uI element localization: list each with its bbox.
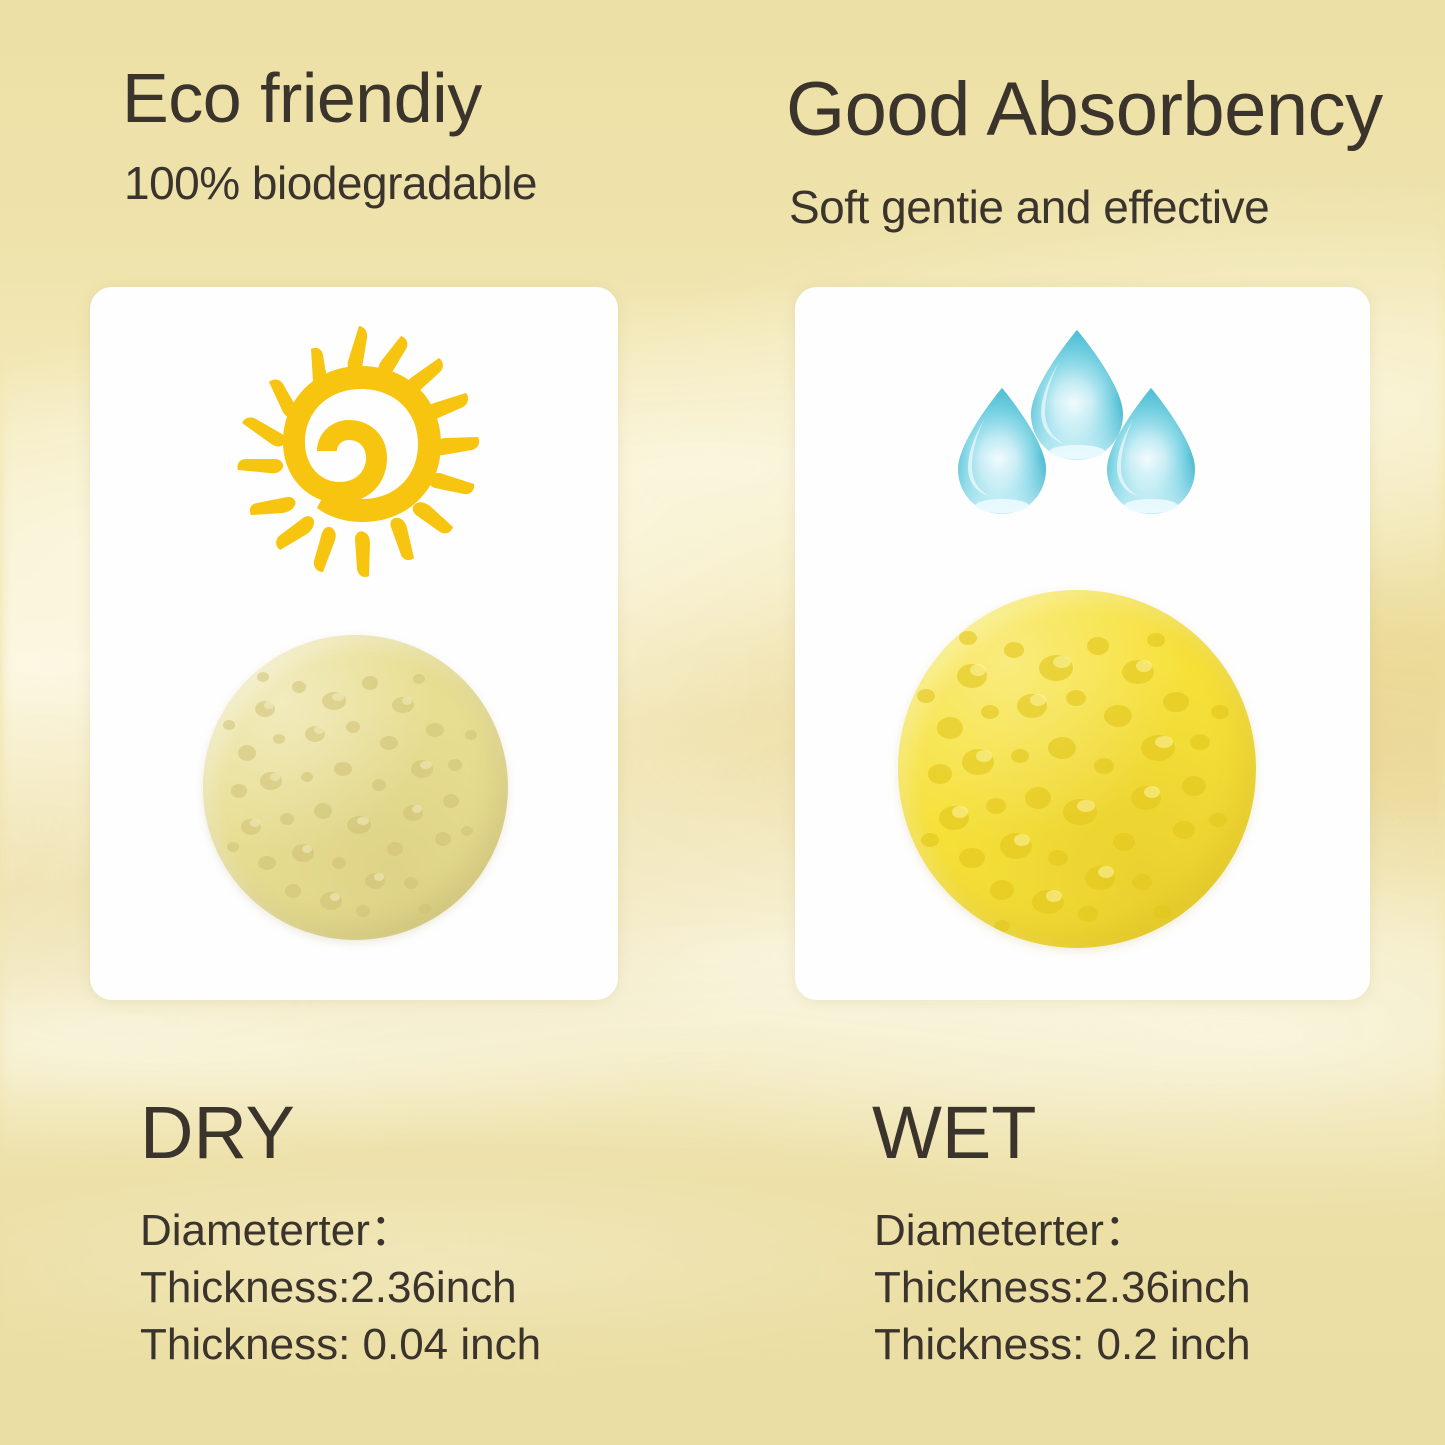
sun-icon: [233, 324, 489, 580]
dry-sponge-image: [203, 635, 508, 940]
dry-product-card: [90, 287, 618, 1000]
dry-panel-heading: Eco friendiy: [122, 63, 482, 133]
wet-product-card: [795, 287, 1370, 1000]
wet-panel-subheading: Soft gentie and effective: [789, 184, 1269, 230]
wet-sponge-pore-texture: [898, 590, 1256, 948]
wet-spec-diameter: Diameterter：: [874, 1202, 1251, 1259]
dry-spec-list: Diameterter： Thickness:2.36inch Thicknes…: [140, 1202, 541, 1373]
wet-spec-thickness-2: Thickness: 0.2 inch: [874, 1316, 1251, 1373]
dry-panel-subheading: 100% biodegradable: [124, 160, 537, 206]
product-feature-infographic: Eco friendiy 100% biodegradable: [0, 0, 1445, 1445]
dry-sponge-pore-texture: [203, 635, 508, 940]
wet-sponge-image: [898, 590, 1256, 948]
wet-panel-heading: Good Absorbency: [786, 72, 1383, 148]
dry-spec-diameter: Diameterter：: [140, 1202, 541, 1259]
water-drops-icon: [955, 322, 1200, 544]
wet-state-label: WET: [872, 1096, 1036, 1170]
dry-spec-thickness-1: Thickness:2.36inch: [140, 1259, 541, 1316]
dry-spec-thickness-2: Thickness: 0.04 inch: [140, 1316, 541, 1373]
water-drop-top: [1031, 330, 1123, 460]
wet-spec-list: Diameterter： Thickness:2.36inch Thicknes…: [874, 1202, 1251, 1373]
dry-state-label: DRY: [140, 1096, 295, 1170]
wet-spec-thickness-1: Thickness:2.36inch: [874, 1259, 1251, 1316]
